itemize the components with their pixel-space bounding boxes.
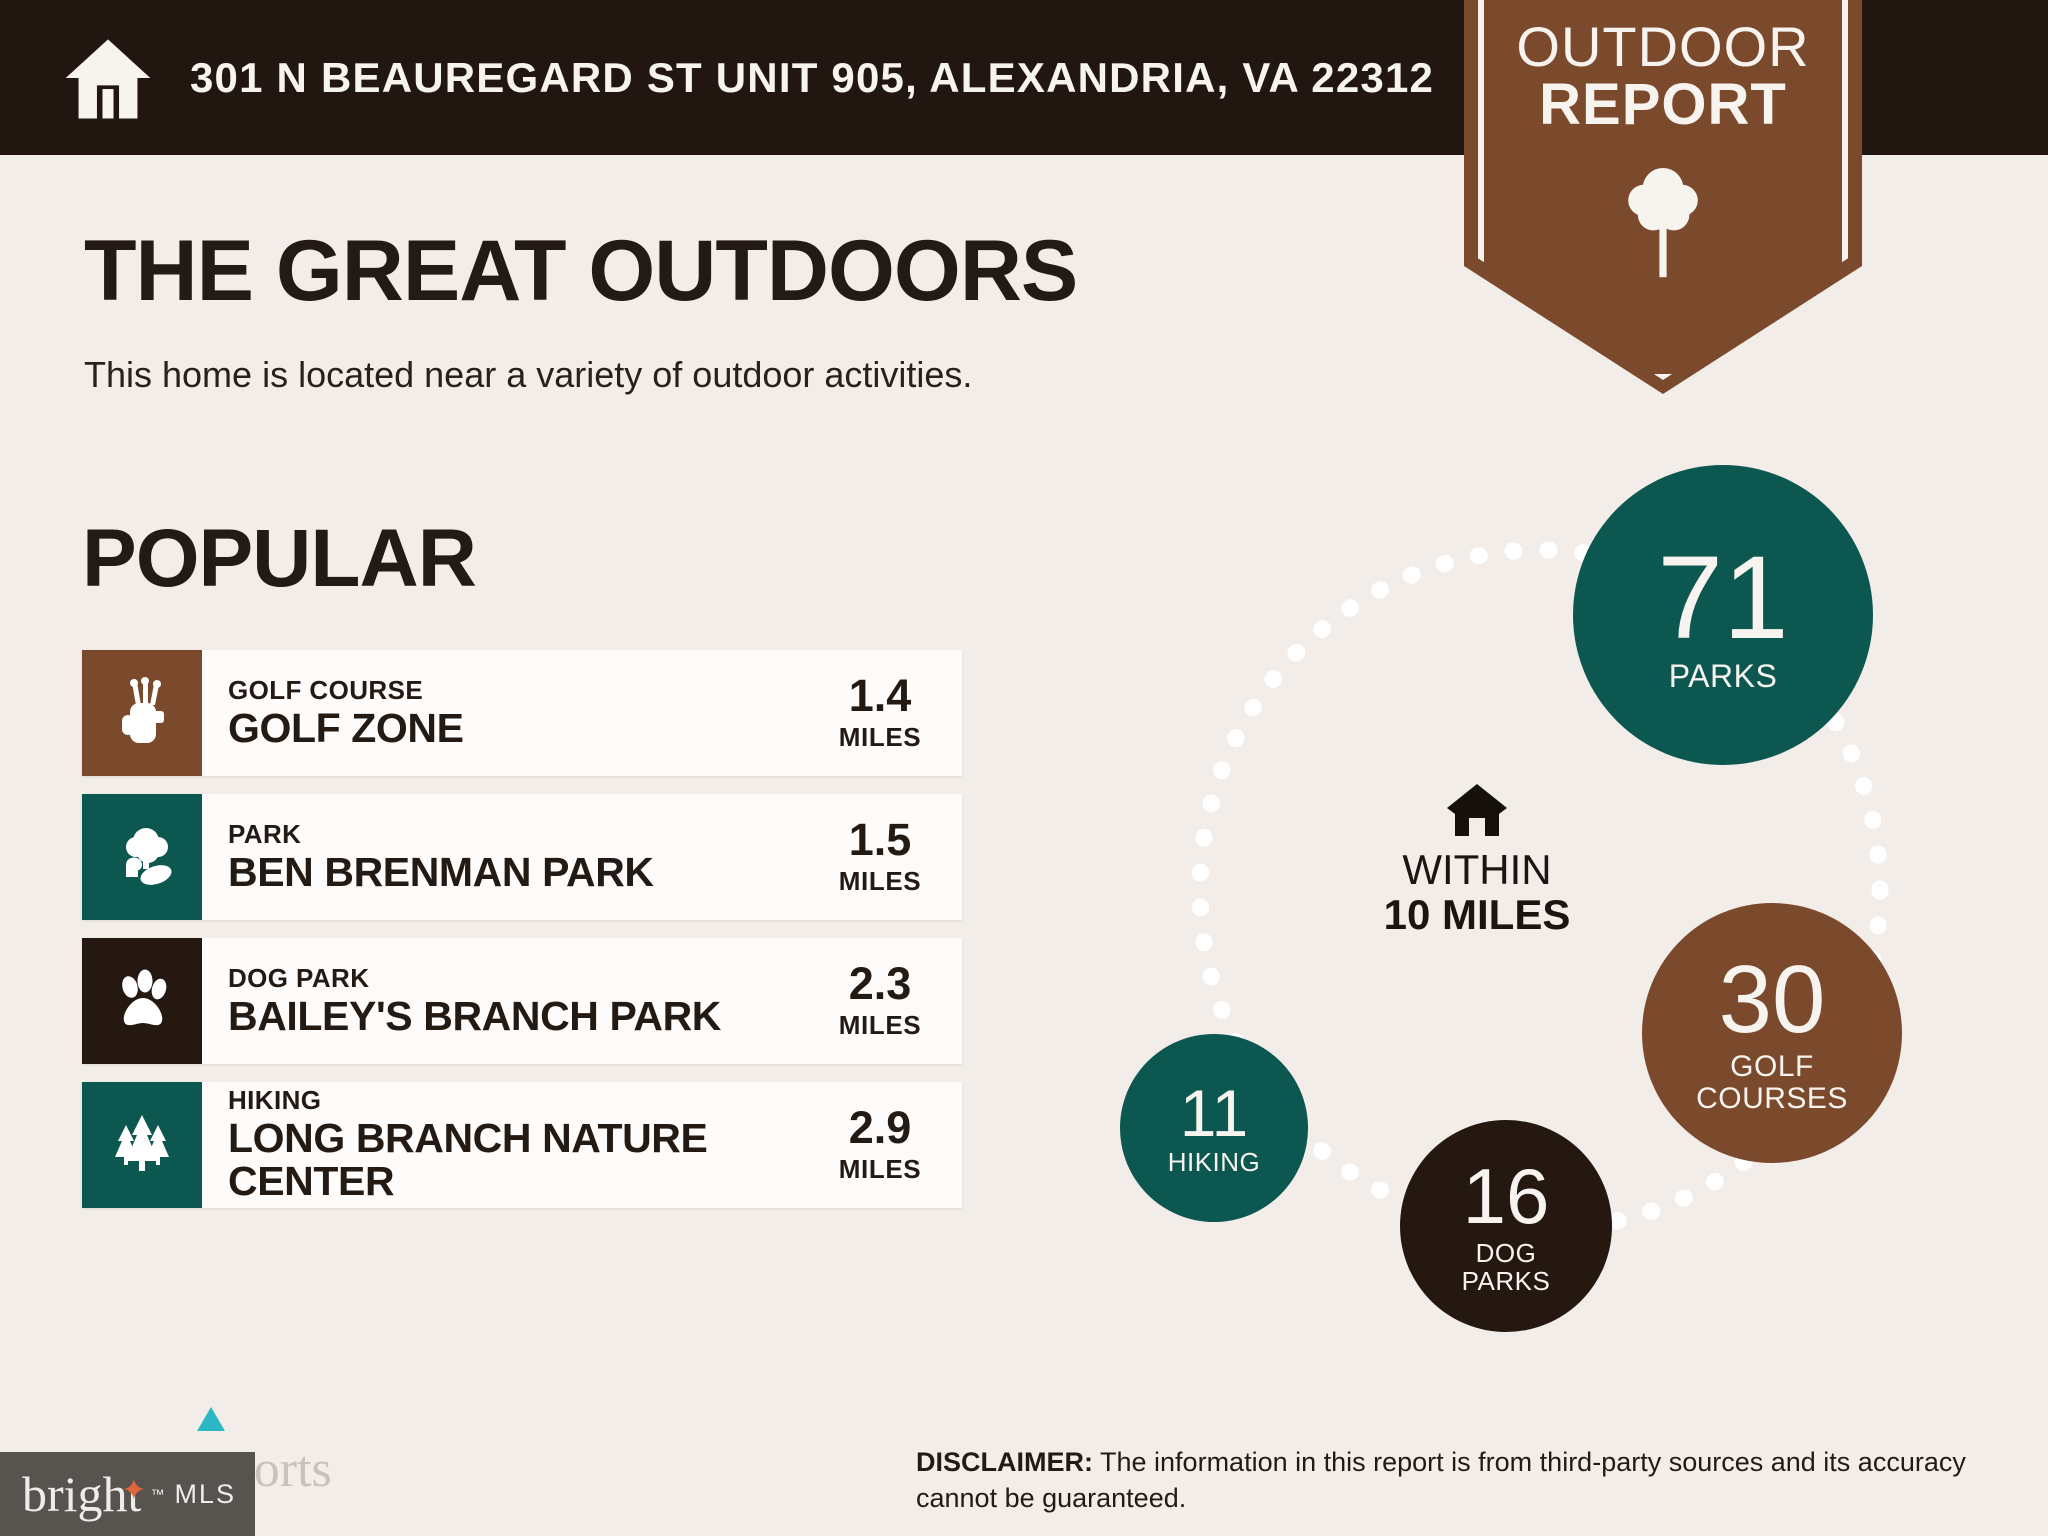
- paw-print-icon-tile: [82, 938, 202, 1064]
- bubble-dog-label-1: DOG: [1476, 1239, 1537, 1267]
- bubble-dog-parks[interactable]: 16 DOG PARKS: [1400, 1120, 1612, 1332]
- distance-unit: MILES: [812, 866, 948, 897]
- golf-bag-icon: [112, 677, 172, 749]
- list-item[interactable]: HIKING LONG BRANCH NATURE CENTER 2.9 MIL…: [82, 1082, 962, 1208]
- list-item-body: PARK BEN BRENMAN PARK: [202, 794, 812, 920]
- bright-tm: ™: [150, 1486, 164, 1502]
- center-label-line-2: 10 MILES: [1352, 893, 1602, 938]
- list-item-category: DOG PARK: [228, 965, 721, 992]
- home-icon: [62, 32, 154, 124]
- bubble-parks-value: 71: [1657, 538, 1788, 658]
- distance-value: 1.4: [812, 673, 948, 718]
- tree-icon: [1621, 162, 1705, 282]
- list-item-distance: 2.3 MILES: [812, 938, 962, 1064]
- paw-print-icon: [112, 965, 172, 1037]
- bubble-golf-courses[interactable]: 30 GOLF COURSES: [1642, 903, 1902, 1163]
- list-item-distance: 1.4 MILES: [812, 650, 962, 776]
- list-item-distance: 1.5 MILES: [812, 794, 962, 920]
- bubble-golf-label-2: COURSES: [1696, 1083, 1848, 1115]
- watermark-triangle-icon: [197, 1407, 225, 1431]
- outdoor-report-badge: OUTDOOR REPORT: [1464, 0, 1862, 394]
- list-item-body: GOLF COURSE GOLF ZONE: [202, 650, 812, 776]
- list-item[interactable]: GOLF COURSE GOLF ZONE 1.4 MILES: [82, 650, 962, 776]
- badge-text: OUTDOOR REPORT: [1464, 18, 1862, 134]
- list-item[interactable]: DOG PARK BAILEY'S BRANCH PARK 2.3 MILES: [82, 938, 962, 1064]
- list-item-category: GOLF COURSE: [228, 677, 464, 704]
- chart-center-label: WITHIN 10 MILES: [1352, 782, 1602, 937]
- badge-line-1: OUTDOOR: [1464, 18, 1862, 75]
- pine-trees-icon: [112, 1109, 172, 1181]
- bright-spark-icon: ✦: [121, 1473, 146, 1508]
- bright-mls-logo[interactable]: bright✦ ™ MLS: [0, 1452, 255, 1536]
- disclaimer: DISCLAIMER: The information in this repo…: [916, 1444, 1986, 1516]
- bubble-golf-value: 30: [1719, 951, 1826, 1049]
- list-item-labels: PARK BEN BRENMAN PARK: [228, 821, 654, 894]
- bubble-parks[interactable]: 71 PARKS: [1573, 465, 1873, 765]
- bubble-dog-value: 16: [1463, 1157, 1550, 1237]
- center-label-line-1: WITHIN: [1352, 848, 1602, 893]
- list-item-distance: 2.9 MILES: [812, 1082, 962, 1208]
- distance-unit: MILES: [812, 1154, 948, 1185]
- pine-trees-icon-tile: [82, 1082, 202, 1208]
- bubble-hiking-value: 11: [1180, 1080, 1249, 1147]
- list-item-name: LONG BRANCH NATURE CENTER: [228, 1117, 802, 1202]
- page-title: THE GREAT OUTDOORS: [84, 222, 1077, 321]
- list-item-name: GOLF ZONE: [228, 707, 464, 750]
- park-trees-icon-tile: [82, 794, 202, 920]
- bubble-hiking-label: HIKING: [1168, 1149, 1261, 1176]
- bubble-hiking[interactable]: 11 HIKING: [1120, 1034, 1308, 1222]
- list-item-labels: HIKING LONG BRANCH NATURE CENTER: [228, 1087, 802, 1202]
- distance-value: 2.9: [812, 1105, 948, 1150]
- list-item-labels: DOG PARK BAILEY'S BRANCH PARK: [228, 965, 721, 1038]
- section-heading-popular: POPULAR: [82, 512, 476, 606]
- bubble-golf-label-1: GOLF: [1730, 1051, 1814, 1083]
- list-item-body: DOG PARK BAILEY'S BRANCH PARK: [202, 938, 812, 1064]
- golf-bag-icon-tile: [82, 650, 202, 776]
- list-item-category: HIKING: [228, 1087, 802, 1114]
- list-item[interactable]: PARK BEN BRENMAN PARK 1.5 MILES: [82, 794, 962, 920]
- property-address: 301 N BEAUREGARD ST UNIT 905, ALEXANDRIA…: [190, 54, 1434, 102]
- distance-unit: MILES: [812, 1010, 948, 1041]
- list-item-category: PARK: [228, 821, 654, 848]
- distance-value: 2.3: [812, 961, 948, 1006]
- list-item-name: BEN BRENMAN PARK: [228, 851, 654, 894]
- distance-value: 1.5: [812, 817, 948, 862]
- list-item-body: HIKING LONG BRANCH NATURE CENTER: [202, 1082, 812, 1208]
- home-icon: [1445, 782, 1509, 838]
- park-trees-icon: [112, 821, 172, 893]
- popular-places-list: GOLF COURSE GOLF ZONE 1.4 MILES: [82, 650, 962, 1226]
- bright-wordmark: bright✦: [22, 1465, 141, 1523]
- badge-line-2: REPORT: [1464, 75, 1862, 134]
- list-item-name: BAILEY'S BRANCH PARK: [228, 995, 721, 1038]
- list-item-labels: GOLF COURSE GOLF ZONE: [228, 677, 464, 750]
- bubble-dog-label-2: PARKS: [1462, 1267, 1551, 1295]
- bright-mls-text: MLS: [174, 1479, 236, 1510]
- distance-unit: MILES: [812, 722, 948, 753]
- disclaimer-label: DISCLAIMER:: [916, 1447, 1093, 1477]
- bubble-parks-label: PARKS: [1669, 660, 1778, 693]
- page-subtitle: This home is located near a variety of o…: [84, 354, 972, 396]
